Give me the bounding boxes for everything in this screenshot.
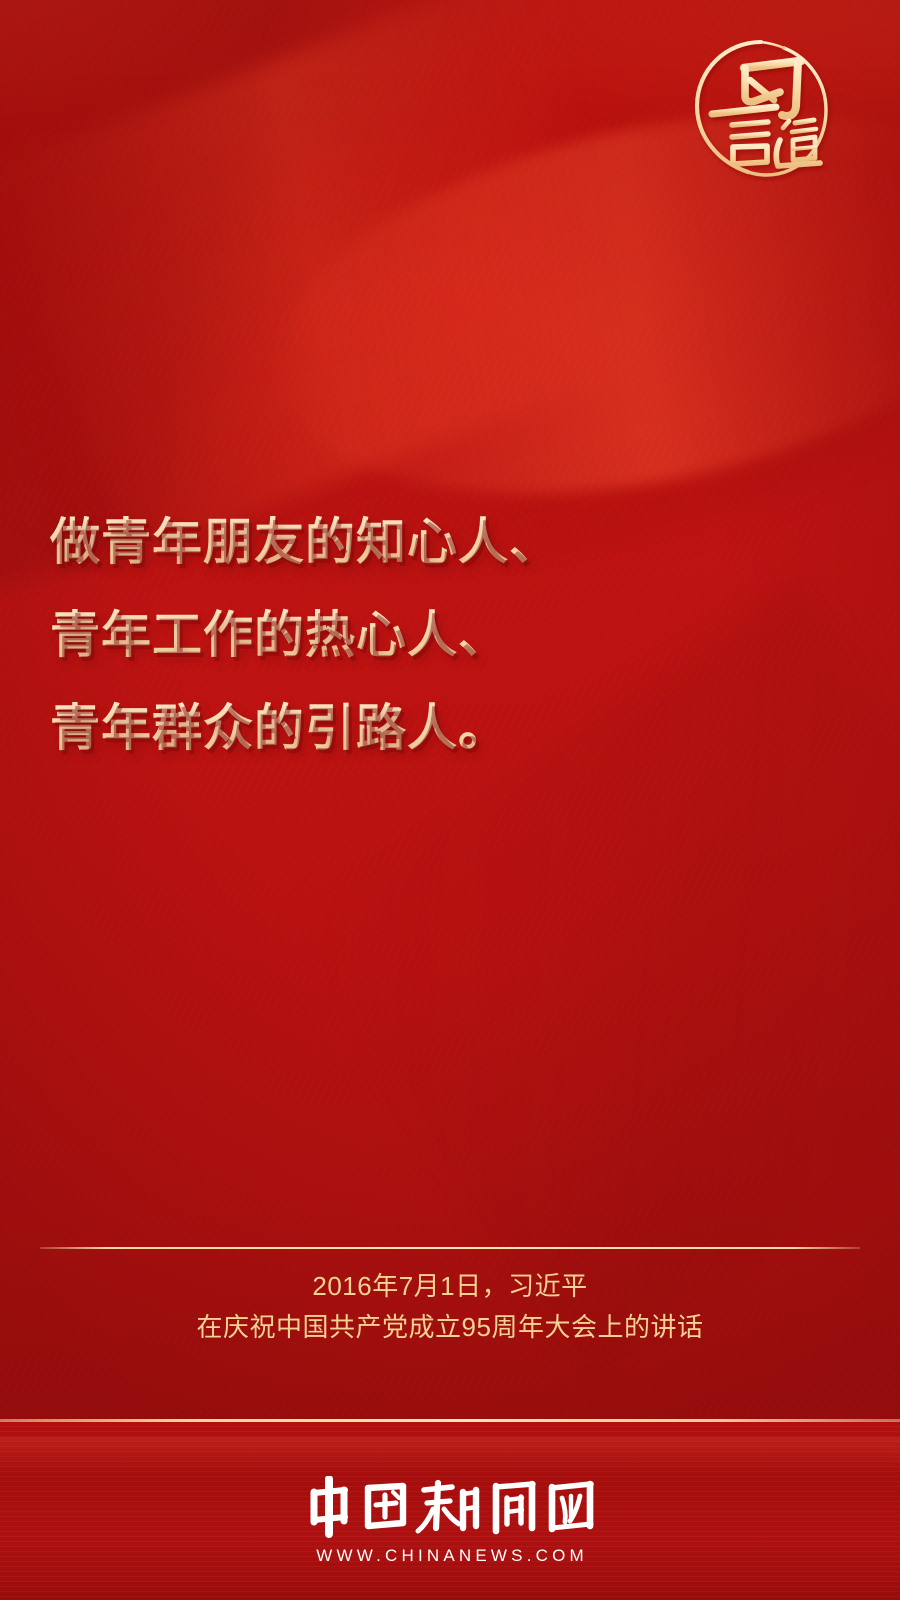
quote-line-1: 做青年朋友的知心人、 [50, 496, 850, 589]
chinanews-logo-icon [300, 1476, 600, 1538]
attribution-line-2: 在庆祝中国共产党成立95周年大会上的讲话 [0, 1307, 900, 1348]
poster-root: 做青年朋友的知心人、 青年工作的热心人、 青年群众的引路人。 2016年7月1日… [0, 0, 900, 1600]
gold-divider [40, 1247, 860, 1249]
footer-gold-rule [0, 1419, 900, 1422]
chinanews-url: WWW.CHINANEWS.COM [0, 1546, 900, 1566]
quote-line-3: 青年群众的引路人。 [50, 682, 850, 775]
quote-line-2: 青年工作的热心人、 [50, 589, 850, 682]
chinanews-brand: WWW.CHINANEWS.COM [0, 1476, 900, 1566]
quote-block: 做青年朋友的知心人、 青年工作的热心人、 青年群众的引路人。 [50, 496, 850, 775]
footer-sheen [0, 1437, 900, 1471]
attribution-line-1: 2016年7月1日，习近平 [0, 1266, 900, 1307]
xi-yan-dao-seal-icon [688, 36, 834, 182]
attribution-block: 2016年7月1日，习近平 在庆祝中国共产党成立95周年大会上的讲话 [0, 1266, 900, 1348]
